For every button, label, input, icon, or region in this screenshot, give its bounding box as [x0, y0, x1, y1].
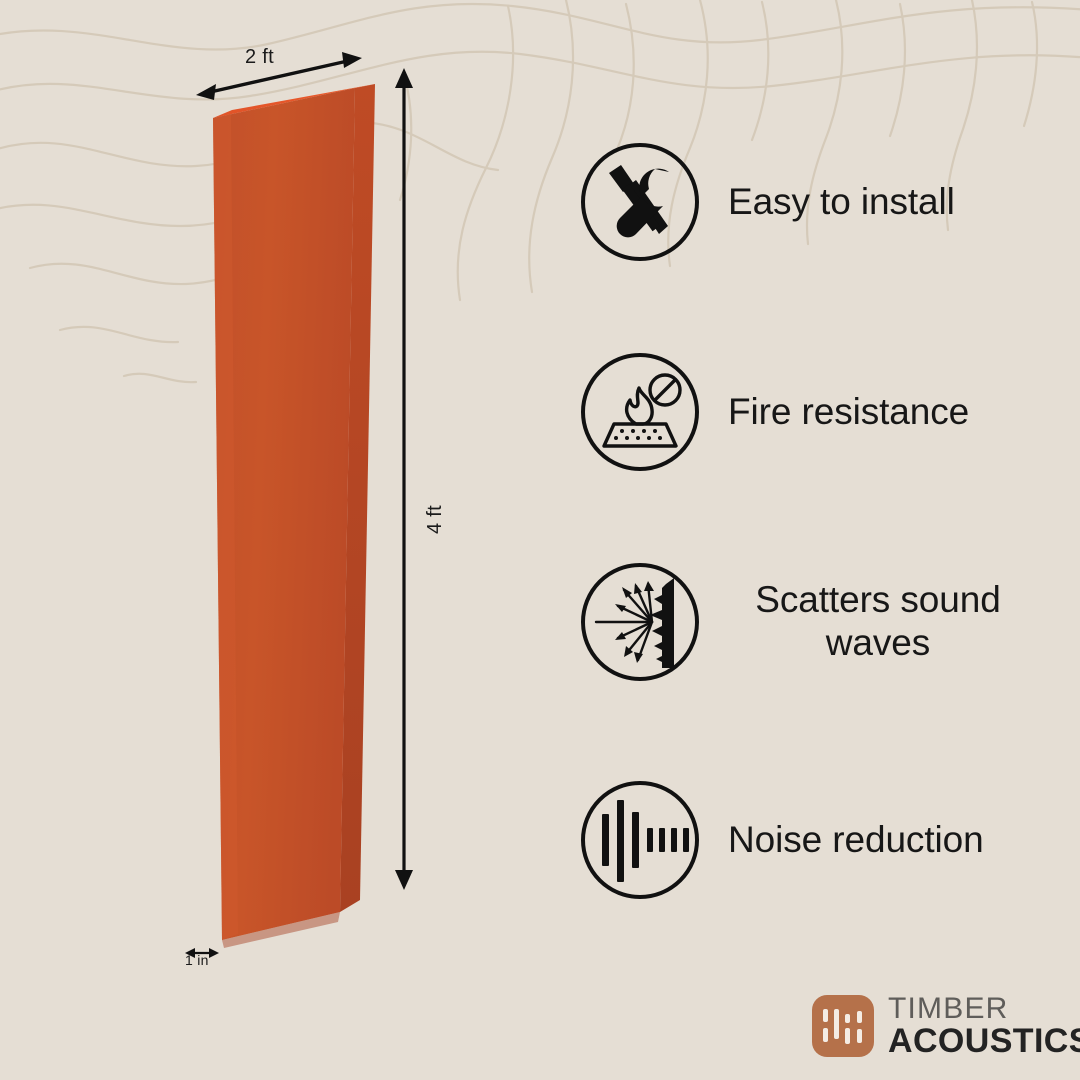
feature-label-line-1: Scatters sound [755, 579, 1000, 620]
feature-item-easy-to-install: Easy to install [578, 140, 955, 264]
brand-logo: TIMBER ACOUSTICS® [812, 994, 1080, 1058]
timber-slats-logo-icon [812, 995, 874, 1057]
brand-name-text: ACOUSTICS [888, 1024, 1080, 1058]
dimension-arrow-depth [185, 948, 219, 958]
feature-label-line-2: waves [826, 622, 930, 663]
brand-name-line-1: TIMBER [888, 994, 1080, 1024]
feature-item-scatters-sound-waves: Scatters sound waves [578, 560, 1028, 684]
waveform-icon [578, 778, 702, 902]
sound-diffusion-icon [578, 560, 702, 684]
feature-label: Noise reduction [728, 819, 984, 862]
feature-label: Easy to install [728, 181, 955, 224]
fire-resistant-icon [578, 350, 702, 474]
feature-label: Fire resistance [728, 391, 969, 434]
tools-icon [578, 140, 702, 264]
feature-item-fire-resistance: Fire resistance [578, 350, 969, 474]
dimension-arrow-height [395, 68, 413, 890]
feature-item-noise-reduction: Noise reduction [578, 778, 984, 902]
infographic-canvas: 2 ft 4 ft 1 in E [0, 0, 1080, 1080]
brand-name-line-2: ACOUSTICS® [888, 1024, 1080, 1058]
feature-list: Easy to install [578, 140, 1048, 920]
brand-wordmark: TIMBER ACOUSTICS® [888, 994, 1080, 1058]
feature-label: Scatters sound waves [728, 579, 1028, 665]
